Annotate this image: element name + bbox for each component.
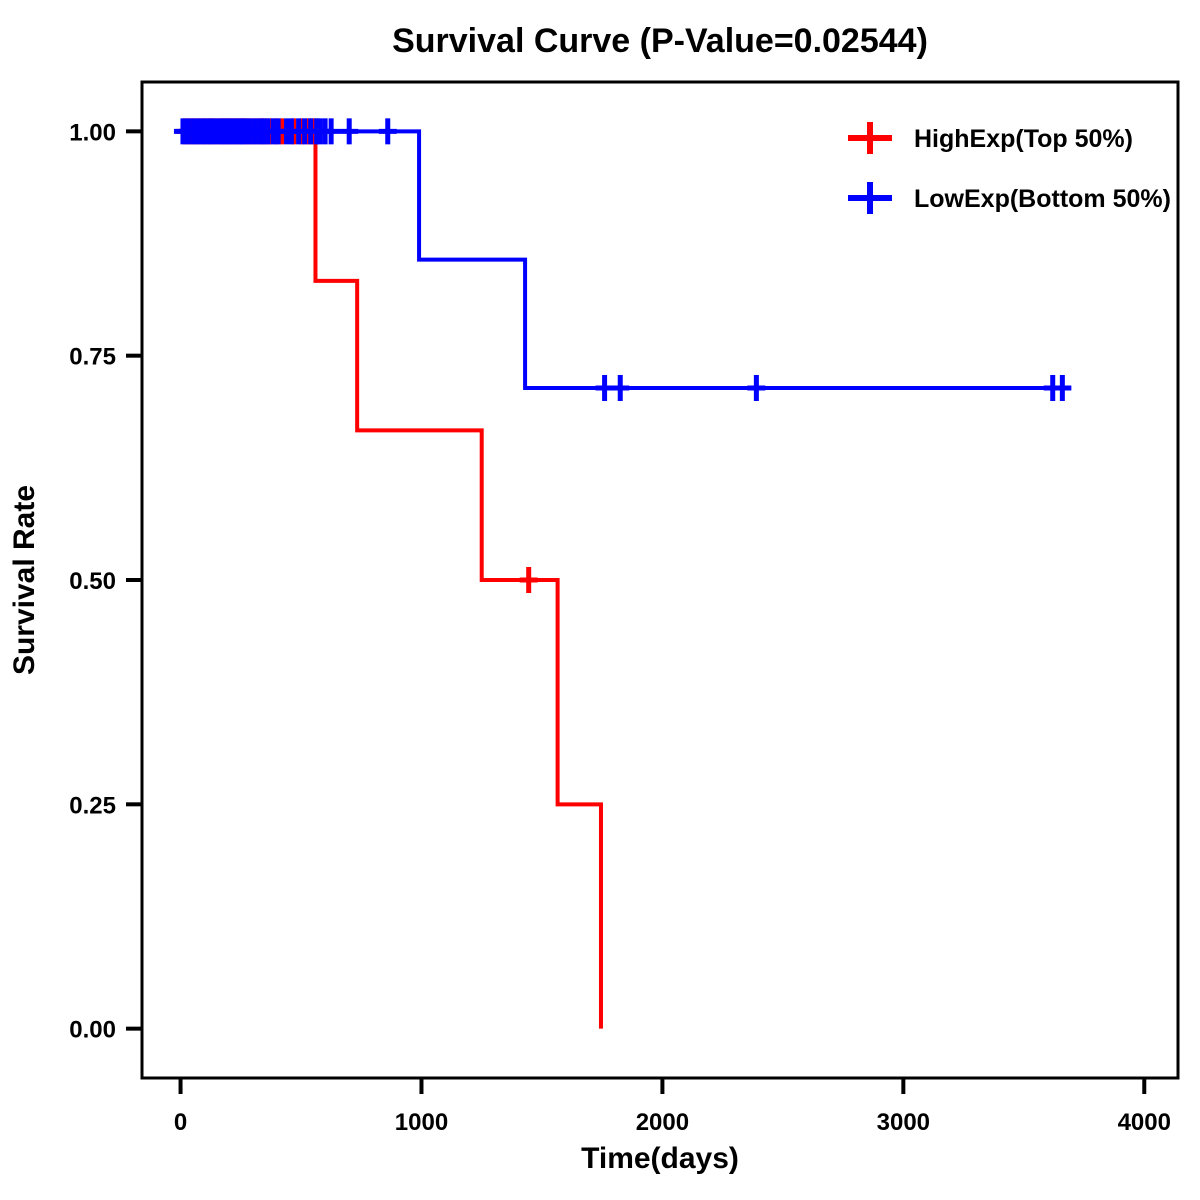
legend-label: HighExp(Top 50%) xyxy=(914,125,1133,153)
chart-title: Survival Curve (P-Value=0.02544) xyxy=(392,22,928,60)
x-tick-label-1000: 1000 xyxy=(395,1109,448,1136)
x-tick-label-0: 0 xyxy=(174,1109,187,1136)
y-tick-label-0.25: 0.25 xyxy=(69,792,116,819)
y-tick-label-0.50: 0.50 xyxy=(69,568,116,595)
y-tick-label-0.00: 0.00 xyxy=(69,1017,116,1044)
y-tick-label-1.00: 1.00 xyxy=(69,119,116,146)
x-tick-label-2000: 2000 xyxy=(636,1109,689,1136)
survival-curve-figure: Survival Curve (P-Value=0.02544) 0100020… xyxy=(0,0,1200,1200)
legend-label: LowExp(Bottom 50%) xyxy=(914,185,1171,213)
x-tick-label-3000: 3000 xyxy=(877,1109,930,1136)
x-tick-label-4000: 4000 xyxy=(1118,1109,1171,1136)
chart-canvas: Survival Curve (P-Value=0.02544) 0100020… xyxy=(0,0,1200,1200)
y-tick-label-0.75: 0.75 xyxy=(69,344,116,371)
x-axis-label: Time(days) xyxy=(581,1142,739,1175)
y-axis-label: Survival Rate xyxy=(8,485,41,675)
